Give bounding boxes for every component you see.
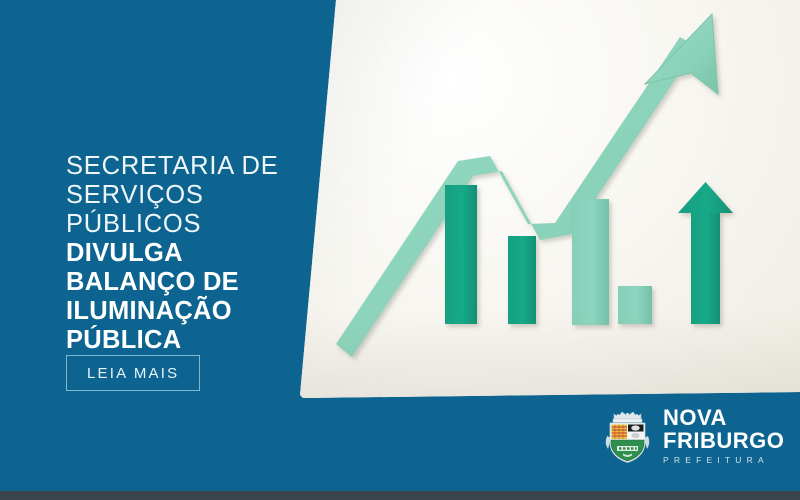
headline-light-line-1: SECRETARIA DE	[66, 152, 302, 181]
headline-light-line-2: SERVIÇOS	[66, 181, 302, 210]
city-logo[interactable]: NOVA FRIBURGO PREFEITURA	[601, 406, 784, 466]
bottom-bar	[0, 491, 800, 500]
headline-bold-line-4: PÚBLICA	[66, 326, 302, 355]
banner-canvas: SECRETARIA DE SERVIÇOS PÚBLICOS DIVULGA …	[0, 0, 800, 500]
headline-light-line-3: PÚBLICOS	[66, 210, 302, 239]
read-more-button[interactable]: LEIA MAIS	[66, 355, 200, 391]
headline-bold-line-2: BALANÇO DE	[66, 268, 302, 297]
headline-bold-line-3: ILUMINAÇÃO	[66, 297, 302, 326]
logo-line-prefeitura: PREFEITURA	[663, 456, 784, 465]
nova-friburgo-coat-of-arms-icon	[601, 406, 654, 466]
growth-chart-photo	[300, 0, 800, 398]
logo-line-nova: NOVA	[663, 407, 784, 429]
page-title: SECRETARIA DE SERVIÇOS PÚBLICOS DIVULGA …	[66, 152, 302, 355]
logo-wordmark: NOVA FRIBURGO PREFEITURA	[663, 407, 784, 465]
logo-line-friburgo: FRIBURGO	[663, 430, 784, 452]
photo-vignette	[300, 0, 800, 398]
headline-bold-line-1: DIVULGA	[66, 239, 302, 268]
